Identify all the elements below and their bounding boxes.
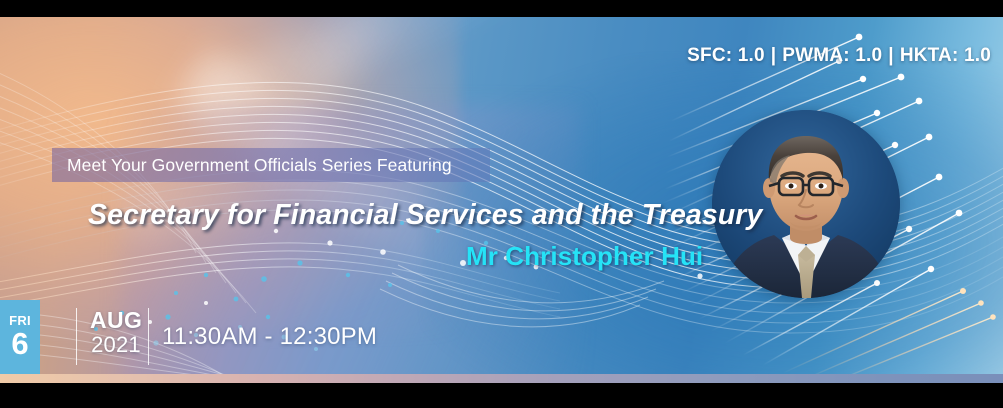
letterbox-top — [0, 0, 1003, 17]
date-chip: FRI 6 — [0, 300, 40, 374]
event-time: 11:30AM - 12:30PM — [162, 323, 377, 351]
date-day-number: 6 — [11, 328, 28, 361]
event-banner: SFC: 1.0|PWMA: 1.0|HKTA: 1.0 Meet Your G… — [0, 0, 1003, 408]
speaker-name: Mr Christopher Hui — [466, 241, 703, 272]
date-divider-2 — [148, 308, 149, 365]
series-eyebrow-bar: Meet Your Government Officials Series Fe… — [52, 148, 490, 182]
banner-artwork: SFC: 1.0|PWMA: 1.0|HKTA: 1.0 Meet Your G… — [0, 17, 1003, 383]
date-divider-1 — [76, 308, 77, 365]
series-eyebrow-label: Meet Your Government Officials Series Fe… — [52, 155, 452, 176]
letterbox-bottom — [0, 383, 1003, 408]
event-title: Secretary for Financial Services and the… — [88, 199, 762, 232]
cpd-credits: SFC: 1.0|PWMA: 1.0|HKTA: 1.0 — [687, 45, 991, 67]
credit-separator-1: | — [765, 45, 783, 66]
credit-pwma: PWMA: 1.0 — [782, 45, 882, 66]
credit-sfc: SFC: 1.0 — [687, 45, 765, 66]
date-year: 2021 — [90, 332, 142, 357]
credit-separator-2: | — [882, 45, 900, 66]
date-month: AUG — [90, 308, 142, 332]
event-date-strip: FRI 6 AUG 2021 11:30AM - 12:30PM — [0, 300, 1003, 374]
date-day-of-week: FRI — [9, 314, 31, 327]
credit-hkta: HKTA: 1.0 — [900, 45, 991, 66]
bottom-accent-band — [0, 374, 1003, 383]
date-month-year: AUG 2021 — [90, 308, 142, 357]
